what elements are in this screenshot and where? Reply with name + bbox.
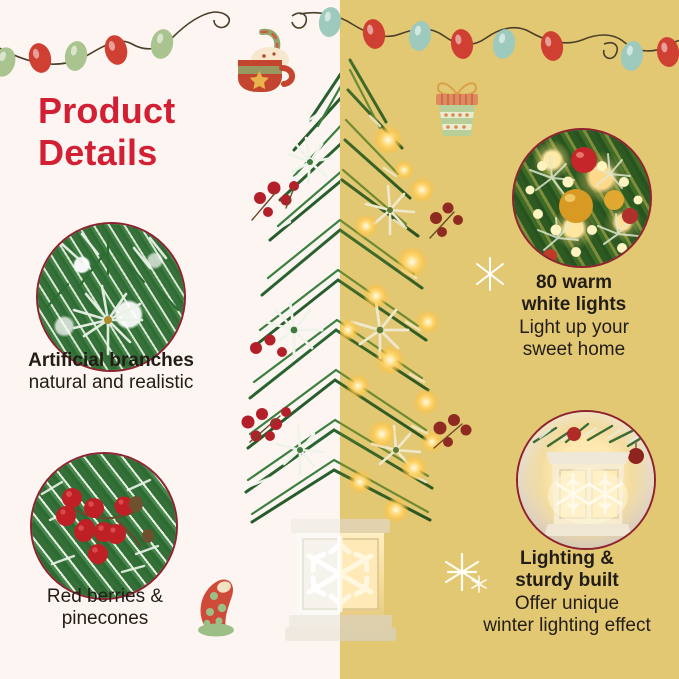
product-details-infographic: Product Details — [0, 0, 679, 679]
caption-sub-line-1: Light up your — [468, 317, 679, 339]
photo-berry-overlay — [32, 454, 178, 600]
caption-sub: pinecones — [0, 608, 210, 630]
caption-heading-line-1: 80 warm — [468, 272, 679, 294]
inset-red-berries — [30, 452, 178, 600]
photo-ornaments-overlay — [514, 130, 652, 268]
caption-lighting-sturdy: Lighting & sturdy built Offer unique win… — [454, 548, 679, 638]
page-title-line-2: Details — [38, 132, 288, 174]
inset-warm-white-lights — [512, 128, 652, 268]
caption-heading-line-2: sturdy built — [454, 570, 679, 592]
caption-heading-line-1: Lighting & — [454, 548, 679, 570]
caption-heading: Red berries & — [0, 586, 210, 608]
caption-warm-white-lights: 80 warm white lights Light up your sweet… — [468, 272, 679, 362]
gift-box-icon — [426, 74, 488, 145]
page-title-line-1: Product — [38, 90, 175, 131]
inset-lighting-sturdy — [516, 410, 656, 550]
snowflake-lantern-base — [283, 505, 398, 645]
caption-sub-line-1: Offer unique — [454, 593, 679, 615]
caption-sub: natural and realistic — [0, 372, 222, 394]
caption-sub-line-2: sweet home — [468, 339, 679, 361]
photo-lantern-overlay — [518, 412, 656, 550]
caption-heading-line-2: white lights — [468, 294, 679, 316]
caption-sub-line-2: winter lighting effect — [454, 615, 679, 637]
hot-cocoa-mug-icon — [218, 24, 304, 101]
caption-artificial-branches: Artificial branches natural and realisti… — [0, 350, 222, 395]
page-title: Product Details — [38, 90, 288, 174]
caption-heading: Artificial branches — [0, 350, 222, 372]
caption-red-berries: Red berries & pinecones — [0, 586, 210, 631]
